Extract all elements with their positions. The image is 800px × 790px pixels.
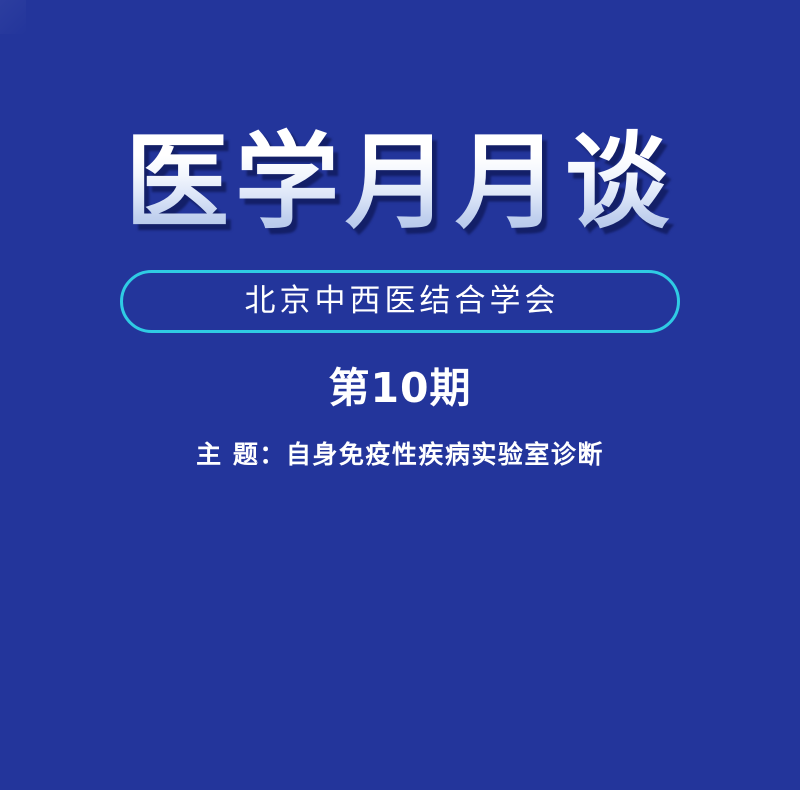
organization-pill: 北京中西医结合学会 [120,270,680,333]
corner-highlight [0,0,26,34]
main-title-block: 医学月月谈 医学月月谈 [0,126,800,238]
issue-number: 第10期 [0,366,800,411]
main-title: 医学月月谈 [125,126,675,238]
poster-canvas: 医学月月谈 医学月月谈 北京中西医结合学会 第10期 主 题：自身免疫性疾病实验… [0,0,800,790]
topic-line: 主 题：自身免疫性疾病实验室诊断 [0,440,800,470]
organization-name: 北京中西医结合学会 [241,286,560,317]
lower-blank-area [0,500,800,790]
